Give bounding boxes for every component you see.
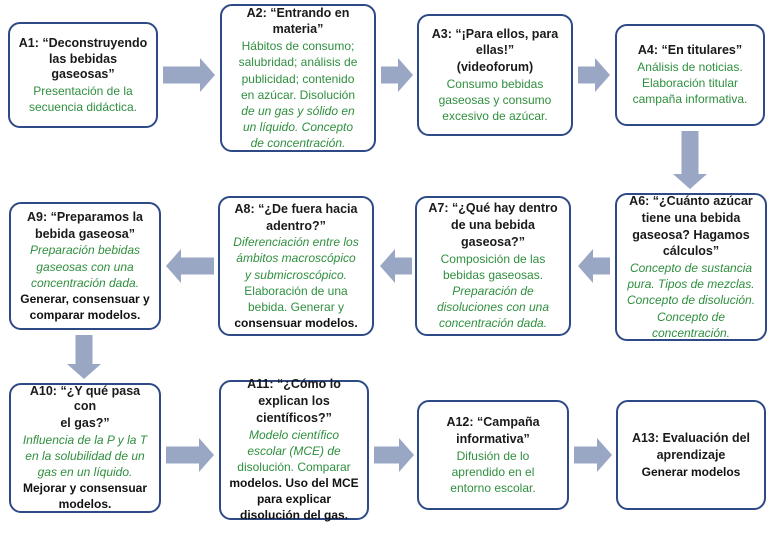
- node-line: Composición de las: [424, 252, 562, 266]
- node-line: A12: “Campaña: [426, 415, 560, 430]
- node-line: Hábitos de consumo;: [229, 39, 367, 53]
- node-line: publicidad; contenido: [229, 72, 367, 86]
- node-line: Concepto de disolución.: [624, 293, 758, 307]
- node-line: de un gas y sólido en: [229, 104, 367, 118]
- node-line: bebida. Generar y: [227, 300, 365, 314]
- node-line: bebida gaseosa”: [18, 227, 152, 242]
- node-line: A10: “¿Y qué pasa con: [18, 384, 152, 414]
- node-line: disolución. Comparar: [228, 460, 360, 474]
- node-line: en azúcar. Disolución: [229, 88, 367, 102]
- node-line: gaseosa? Hagamos: [624, 228, 758, 243]
- arrow-a3-to-a4-icon: [578, 58, 610, 92]
- node-line: A9: “Preparamos la: [18, 210, 152, 225]
- activity-node-a12: A12: “Campañainformativa”Difusión de loa…: [417, 400, 569, 510]
- node-line: Elaboración de una: [227, 284, 365, 298]
- node-line: disolución del gas.: [228, 508, 360, 522]
- arrow-a4-to-a6-icon: [673, 131, 707, 189]
- node-line: Presentación de la: [17, 84, 149, 98]
- node-line: comparar modelos.: [18, 308, 152, 322]
- activity-node-a13: A13: Evaluación delaprendizajeGenerar mo…: [616, 400, 766, 510]
- arrow-a6-to-a7-icon: [578, 249, 610, 283]
- arrow-a10-to-a11-icon: [166, 438, 214, 472]
- node-line: gaseosa?”: [424, 235, 562, 250]
- node-line: concentración dada.: [424, 316, 562, 330]
- node-line: las bebidas gaseosas”: [17, 52, 149, 82]
- node-line: aprendido en el: [426, 465, 560, 479]
- node-line: de concentración.: [229, 136, 367, 150]
- node-line: excesivo de azúcar.: [426, 109, 564, 123]
- node-line: tiene una bebida: [624, 211, 758, 226]
- node-line: campaña informativa.: [624, 92, 756, 106]
- node-line: Generar modelos: [625, 465, 757, 479]
- arrow-a8-to-a9-icon: [166, 249, 214, 283]
- node-line: gas en un líquido.: [18, 465, 152, 479]
- node-line: A3: “¡Para ellos, para: [426, 27, 564, 42]
- node-line: cálculos”: [624, 244, 758, 259]
- node-line: modelos. Uso del MCE: [228, 476, 360, 490]
- node-line: Concepto de: [624, 310, 758, 324]
- arrow-a1-to-a2-icon: [163, 58, 215, 92]
- node-line: Concepto de sustancia: [624, 261, 758, 275]
- arrow-a12-to-a13-icon: [574, 438, 612, 472]
- node-line: (videoforum): [426, 60, 564, 75]
- node-line: consensuar modelos.: [227, 316, 365, 330]
- activity-node-a2: A2: “Entrando enmateria”Hábitos de consu…: [220, 4, 376, 152]
- node-line: y submicroscópico.: [227, 268, 365, 282]
- node-line: materia”: [229, 22, 367, 37]
- activity-node-a11: A11: “¿Cómo loexplican loscientíficos?”M…: [219, 380, 369, 520]
- node-line: de una bebida: [424, 218, 562, 233]
- node-line: pura. Tipos de mezclas.: [624, 277, 758, 291]
- node-line: en la solubilidad de un: [18, 449, 152, 463]
- node-line: Diferenciación entre los: [227, 235, 365, 249]
- node-line: Preparación bebidas: [18, 243, 152, 257]
- node-line: Generar, consensuar y: [18, 292, 152, 306]
- node-line: salubridad; análisis de: [229, 55, 367, 69]
- node-line: entorno escolar.: [426, 481, 560, 495]
- node-line: Mejorar y consensuar: [18, 481, 152, 495]
- node-line: Difusión de lo: [426, 449, 560, 463]
- activity-node-a3: A3: “¡Para ellos, paraellas!”(videoforum…: [417, 14, 573, 136]
- node-line: A8: “¿De fuera hacia: [227, 202, 365, 217]
- node-line: Elaboración titular: [624, 76, 756, 90]
- arrow-a7-to-a8-icon: [380, 249, 412, 283]
- node-line: gaseosas y consumo: [426, 93, 564, 107]
- node-line: explican los: [228, 394, 360, 409]
- node-line: Modelo científico: [228, 428, 360, 442]
- node-line: A11: “¿Cómo lo: [228, 377, 360, 392]
- node-line: escolar (MCE) de: [228, 444, 360, 458]
- node-line: A6: “¿Cuánto azúcar: [624, 194, 758, 209]
- activity-node-a6: A6: “¿Cuánto azúcartiene una bebidagaseo…: [615, 193, 767, 341]
- node-line: Análisis de noticias.: [624, 60, 756, 74]
- node-line: A4: “En titulares”: [624, 43, 756, 58]
- node-line: bebidas gaseosas.: [424, 268, 562, 282]
- node-line: para explicar: [228, 492, 360, 506]
- arrow-a11-to-a12-icon: [374, 438, 414, 472]
- arrow-a2-to-a3-icon: [381, 58, 413, 92]
- node-line: disoluciones con una: [424, 300, 562, 314]
- activity-node-a10: A10: “¿Y qué pasa conel gas?”Influencia …: [9, 383, 161, 513]
- activity-node-a7: A7: “¿Qué hay dentrode una bebidagaseosa…: [415, 196, 571, 336]
- node-line: adentro?”: [227, 219, 365, 234]
- node-line: A2: “Entrando en: [229, 6, 367, 21]
- node-line: gaseosas con una: [18, 260, 152, 274]
- node-line: secuencia didáctica.: [17, 100, 149, 114]
- activity-node-a1: A1: “Deconstruyendolas bebidas gaseosas”…: [8, 22, 158, 128]
- node-line: aprendizaje: [625, 448, 757, 463]
- node-line: Influencia de la P y la T: [18, 433, 152, 447]
- activity-node-a9: A9: “Preparamos labebida gaseosa”Prepara…: [9, 202, 161, 330]
- node-line: Consumo bebidas: [426, 77, 564, 91]
- node-line: Preparación de: [424, 284, 562, 298]
- node-line: científicos?”: [228, 411, 360, 426]
- node-line: modelos.: [18, 497, 152, 511]
- node-line: concentración dada.: [18, 276, 152, 290]
- node-line: el gas?”: [18, 416, 152, 431]
- node-line: ellas!”: [426, 43, 564, 58]
- node-line: ámbitos macroscópico: [227, 251, 365, 265]
- node-line: informativa”: [426, 432, 560, 447]
- diagram-canvas: A1: “Deconstruyendolas bebidas gaseosas”…: [0, 0, 774, 543]
- arrow-a9-to-a10-icon: [67, 335, 101, 379]
- node-line: A13: Evaluación del: [625, 431, 757, 446]
- node-line: concentración.: [624, 326, 758, 340]
- activity-node-a4: A4: “En titulares”Análisis de noticias.E…: [615, 24, 765, 126]
- node-line: A1: “Deconstruyendo: [17, 36, 149, 51]
- node-line: un líquido. Concepto: [229, 120, 367, 134]
- node-line: A7: “¿Qué hay dentro: [424, 201, 562, 216]
- activity-node-a8: A8: “¿De fuera haciaadentro?”Diferenciac…: [218, 196, 374, 336]
